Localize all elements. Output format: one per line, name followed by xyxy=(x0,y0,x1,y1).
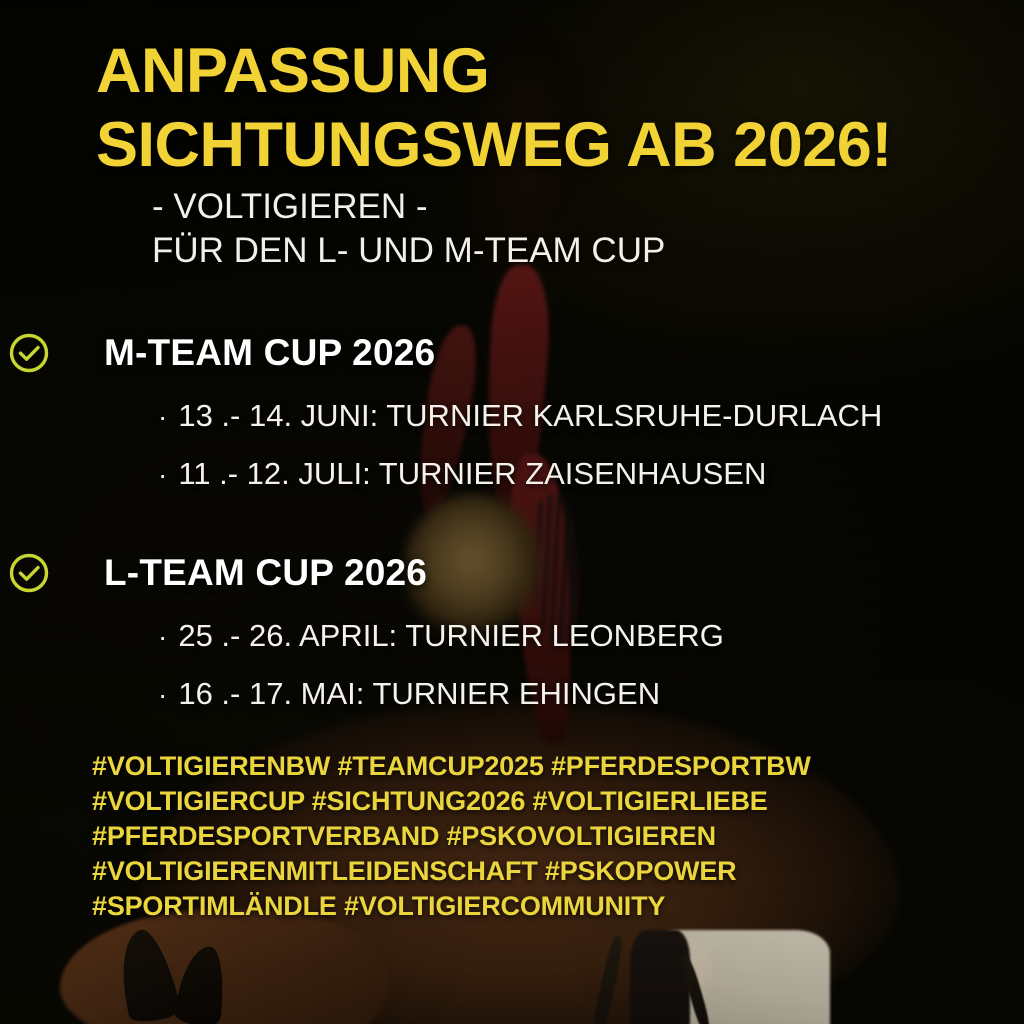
section-header-m-team-cup: M-TEAM CUP 2026 xyxy=(0,330,1024,376)
list-item: · 11 .- 12. JULI: TURNIER ZAISENHAUSEN xyxy=(0,456,1024,492)
event-text: 16 .- 17. MAI: TURNIER EHINGEN xyxy=(178,676,660,712)
list-item: · 25 .- 26. APRIL: TURNIER LEONBERG xyxy=(0,618,1024,654)
hashtag-line-4: #VOLTIGIERENMITLEIDENSCHAFT #PSKOPOWER xyxy=(92,854,992,889)
section-title-m-team-cup: M-TEAM CUP 2026 xyxy=(104,332,435,374)
poster-content: ANPASSUNG SICHTUNGSWEG AB 2026! - VOLTIG… xyxy=(0,0,1024,1024)
cup-sections: M-TEAM CUP 2026 · 13 .- 14. JUNI: TURNIE… xyxy=(0,330,1024,770)
hashtag-line-2: #VOLTIGIERCUP #SICHTUNG2026 #VOLTIGIERLI… xyxy=(92,784,992,819)
event-bullet: · xyxy=(158,620,167,654)
headline-block: ANPASSUNG SICHTUNGSWEG AB 2026! xyxy=(96,34,976,182)
list-item: · 13 .- 14. JUNI: TURNIER KARLSRUHE-DURL… xyxy=(0,398,1024,434)
event-bullet: · xyxy=(158,400,167,434)
headline-line-1: ANPASSUNG xyxy=(96,34,976,108)
subtitle-block: - VOLTIGIEREN - FÜR DEN L- UND M-TEAM CU… xyxy=(152,185,992,273)
list-item: · 16 .- 17. MAI: TURNIER EHINGEN xyxy=(0,676,1024,712)
subtitle-line-2: FÜR DEN L- UND M-TEAM CUP xyxy=(152,229,992,273)
event-text: 11 .- 12. JULI: TURNIER ZAISENHAUSEN xyxy=(178,456,766,492)
check-circle-icon xyxy=(8,332,50,374)
poster-canvas: ANPASSUNG SICHTUNGSWEG AB 2026! - VOLTIG… xyxy=(0,0,1024,1024)
section-m-team-cup: M-TEAM CUP 2026 · 13 .- 14. JUNI: TURNIE… xyxy=(0,330,1024,492)
section-l-team-cup: L-TEAM CUP 2026 · 25 .- 26. APRIL: TURNI… xyxy=(0,550,1024,712)
section-title-l-team-cup: L-TEAM CUP 2026 xyxy=(104,552,427,594)
check-circle-icon xyxy=(8,552,50,594)
event-bullet: · xyxy=(158,458,167,492)
event-list-l-team-cup: · 25 .- 26. APRIL: TURNIER LEONBERG · 16… xyxy=(0,618,1024,712)
headline-line-2: SICHTUNGSWEG AB 2026! xyxy=(96,108,976,182)
event-list-m-team-cup: · 13 .- 14. JUNI: TURNIER KARLSRUHE-DURL… xyxy=(0,398,1024,492)
hashtag-line-5: #SPORTIMLÄNDLE #VOLTIGIERCOMMUNITY xyxy=(92,889,992,924)
hashtag-block: #VOLTIGIERENBW #TEAMCUP2025 #PFERDESPORT… xyxy=(92,749,992,924)
hashtag-line-1: #VOLTIGIERENBW #TEAMCUP2025 #PFERDESPORT… xyxy=(92,749,992,784)
section-header-l-team-cup: L-TEAM CUP 2026 xyxy=(0,550,1024,596)
event-text: 13 .- 14. JUNI: TURNIER KARLSRUHE-DURLAC… xyxy=(178,398,882,434)
subtitle-line-1: - VOLTIGIEREN - xyxy=(152,185,992,229)
hashtag-line-3: #PFERDESPORTVERBAND #PSKOVOLTIGIEREN xyxy=(92,819,992,854)
event-text: 25 .- 26. APRIL: TURNIER LEONBERG xyxy=(178,618,724,654)
event-bullet: · xyxy=(158,678,167,712)
